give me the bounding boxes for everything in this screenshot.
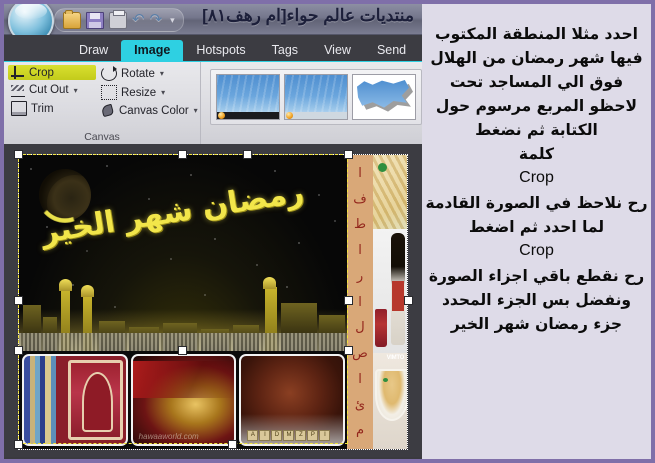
cut-out-label: Cut Out bbox=[29, 84, 69, 96]
resize-handle-sw2[interactable] bbox=[14, 346, 23, 355]
instruction-line: الكتابة ثم نضغط bbox=[475, 118, 598, 142]
ribbon-tab-strip: Draw Image Hotspots Tags View Send bbox=[4, 35, 422, 61]
save-icon[interactable] bbox=[86, 12, 104, 29]
vertical-letter: ط bbox=[354, 217, 366, 232]
customize-chevron-icon[interactable]: ▾ bbox=[170, 15, 175, 26]
canvas-color-label: Canvas Color bbox=[119, 105, 189, 117]
tab-hotspots[interactable]: Hotspots bbox=[183, 40, 258, 61]
sky-thumbnail-1[interactable] bbox=[216, 74, 280, 120]
resize-handle-ne[interactable] bbox=[344, 150, 353, 159]
window-title: منتديات عالم حواء[ام رهف٨١] bbox=[202, 6, 414, 26]
instruction-line: رح نقطع باقي اجزاء الصورة bbox=[429, 264, 644, 288]
print-icon[interactable] bbox=[109, 12, 127, 29]
resize-handle-w[interactable] bbox=[14, 296, 23, 305]
instruction-line-crop: Crop bbox=[519, 166, 554, 191]
letter-tile: I bbox=[319, 430, 330, 441]
bottom-photo-row: hawaaworld.com A I D M Z P I bbox=[20, 351, 347, 449]
letter-tile: M bbox=[283, 430, 294, 441]
instruction-line: فيها شهر رمضان من الهلال bbox=[430, 46, 642, 70]
chevron-down-icon: ▾ bbox=[160, 69, 164, 78]
tab-image[interactable]: Image bbox=[121, 40, 183, 61]
resize-label: Resize bbox=[121, 87, 156, 99]
letter-tile: I bbox=[259, 430, 270, 441]
trim-icon bbox=[11, 101, 27, 116]
open-icon[interactable] bbox=[63, 12, 81, 29]
trim-label: Trim bbox=[31, 103, 54, 115]
resize-icon bbox=[101, 85, 117, 100]
resize-button[interactable]: Resize ▾ bbox=[98, 84, 196, 101]
instruction-line: ونفضل بس الجزء المحدد bbox=[442, 288, 631, 312]
canvas-group-label: Canvas bbox=[4, 131, 200, 143]
canvas-handle-e[interactable] bbox=[404, 296, 413, 305]
vertical-letter: م bbox=[356, 423, 364, 438]
vertical-letter: ا bbox=[358, 295, 362, 310]
instruction-line-crop: Crop bbox=[519, 239, 554, 264]
ribbon-group-gallery bbox=[200, 62, 422, 144]
tab-view[interactable]: View bbox=[311, 40, 364, 61]
food-photo-column: VIMTO bbox=[373, 155, 407, 449]
sky-thumbnail-2[interactable] bbox=[284, 74, 348, 120]
instructions-panel: احدد مثلا المنطقة المكتوب فيها شهر رمضان… bbox=[422, 4, 651, 459]
cut-out-button[interactable]: Cut Out ▾ bbox=[8, 82, 96, 98]
chevron-down-icon: ▾ bbox=[74, 86, 78, 95]
instruction-line: جزء رمضان شهر الخير bbox=[451, 312, 622, 336]
title-bar: ↶ ↷ ▾ منتديات عالم حواء[ام رهف٨١] bbox=[4, 4, 422, 35]
resize-handle-e[interactable] bbox=[344, 296, 353, 305]
rotate-button[interactable]: Rotate ▾ bbox=[98, 65, 196, 82]
vertical-letter: ئ bbox=[355, 398, 365, 413]
instruction-line: فوق الي المساجد تحت bbox=[450, 70, 623, 94]
letter-tile: Z bbox=[295, 430, 306, 441]
canvas-color-icon bbox=[101, 104, 115, 117]
instruction-line: رح نلاحظ في الصورة القادمة bbox=[425, 191, 647, 215]
image-editor-window: ↶ ↷ ▾ منتديات عالم حواء[ام رهف٨١] Draw I… bbox=[4, 4, 422, 459]
quick-access-toolbar: ↶ ↷ ▾ bbox=[54, 8, 184, 32]
style-gallery[interactable] bbox=[210, 69, 422, 125]
canvas-area[interactable]: رمضان شهر الخير bbox=[18, 154, 408, 450]
cutout-icon bbox=[11, 83, 25, 97]
chevron-down-icon: ▾ bbox=[194, 106, 198, 115]
resize-handle-nw[interactable] bbox=[14, 150, 23, 159]
vertical-letter: ر bbox=[357, 269, 363, 284]
rotate-icon bbox=[101, 66, 117, 81]
canvas-workspace[interactable]: رمضان شهر الخير bbox=[4, 144, 422, 457]
pastries-photo bbox=[373, 155, 407, 229]
vimto-drink-photo: VIMTO bbox=[373, 229, 407, 353]
chevron-down-icon: ▾ bbox=[161, 88, 165, 97]
crop-label: Crop bbox=[29, 67, 54, 79]
resize-handle-sw[interactable] bbox=[14, 440, 23, 449]
vertical-letter: ا bbox=[358, 243, 362, 258]
vertical-letter: ف bbox=[353, 192, 366, 207]
soup-bowl-photo bbox=[373, 353, 407, 449]
vertical-letter: ل bbox=[355, 320, 364, 335]
letter-tile: A bbox=[247, 430, 258, 441]
redo-icon[interactable]: ↷ bbox=[150, 13, 163, 27]
instruction-line: كلمة bbox=[519, 142, 554, 166]
canvas-color-button[interactable]: Canvas Color ▾ bbox=[98, 103, 196, 118]
letter-tiles: A I D M Z P I bbox=[247, 430, 330, 441]
crop-button[interactable]: Crop bbox=[8, 65, 96, 80]
screenshot-root: ↶ ↷ ▾ منتديات عالم حواء[ام رهف٨١] Draw I… bbox=[0, 0, 655, 463]
prayer-rugs-photo bbox=[22, 354, 128, 446]
resize-handle-n[interactable] bbox=[178, 150, 187, 159]
vertical-letter: ص bbox=[352, 346, 368, 361]
letter-tile: D bbox=[271, 430, 282, 441]
crop-icon bbox=[11, 66, 25, 79]
ribbon: Crop Cut Out ▾ Trim bbox=[4, 61, 422, 144]
fabric-photo: hawaaworld.com bbox=[131, 354, 237, 446]
trim-button[interactable]: Trim bbox=[8, 100, 96, 117]
dates-photo: A I D M Z P I bbox=[239, 354, 345, 446]
instruction-line: احدد مثلا المنطقة المكتوب bbox=[435, 22, 638, 46]
mosque-skyline bbox=[19, 265, 347, 351]
vertical-letter: ا bbox=[358, 372, 362, 387]
tab-send[interactable]: Send bbox=[364, 40, 419, 61]
resize-handle-n2[interactable] bbox=[243, 150, 252, 159]
tab-tags[interactable]: Tags bbox=[259, 40, 311, 61]
resize-handle-s[interactable] bbox=[228, 440, 237, 449]
rotate-label: Rotate bbox=[121, 68, 155, 80]
vertical-letter: ا bbox=[358, 166, 362, 181]
resize-handle-se2[interactable] bbox=[344, 346, 353, 355]
ribbon-group-canvas: Crop Cut Out ▾ Trim bbox=[4, 62, 200, 144]
instruction-line: لاحظو المربع مرسوم حول bbox=[436, 94, 637, 118]
tab-draw[interactable]: Draw bbox=[66, 40, 121, 61]
letter-tile: P bbox=[307, 430, 318, 441]
watermark-text: hawaaworld.com bbox=[139, 432, 199, 441]
undo-icon[interactable]: ↶ bbox=[132, 13, 145, 27]
sky-cutout-thumbnail-3[interactable] bbox=[352, 74, 416, 120]
ramadan-night-scene: رمضان شهر الخير bbox=[19, 155, 347, 351]
vimto-label: VIMTO bbox=[387, 355, 404, 361]
instruction-line: لما احدد ثم اضغط bbox=[469, 215, 604, 239]
resize-handle-s2[interactable] bbox=[178, 346, 187, 355]
